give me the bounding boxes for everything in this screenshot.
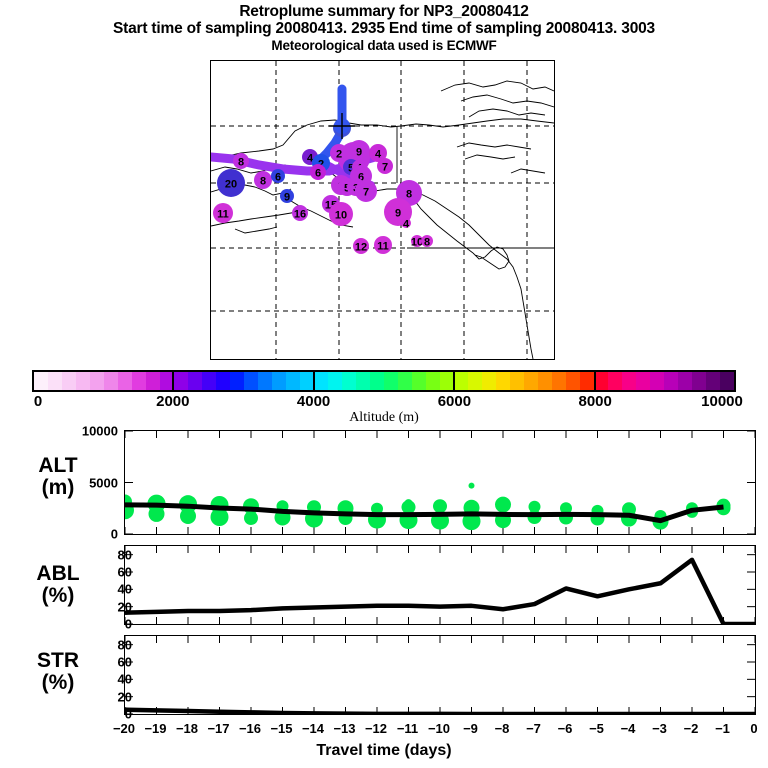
colorbar-division [594,370,596,392]
colorbar-tick-label: 8000 [579,393,612,410]
colorbar-segment [580,372,594,390]
colorbar-segment [188,372,202,390]
x-axis-tick-label: −2 [684,721,699,736]
cluster-label: 6 [275,172,281,184]
abl-line [125,560,755,624]
x-axis-tick-label: −9 [463,721,478,736]
x-axis-tick-label: −18 [176,721,198,736]
x-axis-tick-labels: −20−19−18−17−16−15−14−13−12−11−10−9−8−7−… [0,721,768,737]
colorbar-segment [384,372,398,390]
x-axis-tick-label: 0 [750,721,757,736]
colorbar-tick-label: 4000 [297,393,330,410]
colorbar-segment [496,372,510,390]
colorbar-segment [412,372,426,390]
colorbar-segment [370,372,384,390]
colorbar-segment [706,372,720,390]
colorbar-segment [566,372,580,390]
colorbar-segment [314,372,328,390]
colorbar-segment [342,372,356,390]
x-axis-tick-label: −17 [207,721,229,736]
x-axis-tick-label: −8 [495,721,510,736]
altitude-colorbar [32,370,736,392]
colorbar-segment [216,372,230,390]
coastlines [211,81,554,359]
cluster-label: 11 [217,209,229,221]
x-axis-tick-label: −4 [621,721,636,736]
figure-title: Retroplume summary for NP3_20080412 [0,3,768,20]
cluster-label: 4 [403,219,410,231]
cluster-label: 12 [355,242,367,254]
colorbar-division [453,370,455,392]
str-chart-canvas [125,636,755,714]
colorbar-segment [482,372,496,390]
cluster-label: 9 [356,147,362,159]
colorbar-tick-label: 2000 [156,393,189,410]
colorbar-segment [468,372,482,390]
colorbar-tick-label: 10000 [701,393,743,410]
x-axis-tick-label: −15 [270,721,292,736]
y-axis-tick-label: 20 [72,689,132,704]
y-axis-tick-label: 20 [72,599,132,614]
colorbar-segment [426,372,440,390]
colorbar-segment [454,372,468,390]
colorbar-segment [202,372,216,390]
alt-scatter-point [495,497,511,513]
colorbar-segment [48,372,62,390]
colorbar-segment [272,372,286,390]
y-axis-tick-label: 0 [72,617,132,632]
cluster-label: 11 [377,241,389,253]
y-axis-tick-label: 5000 [58,475,118,490]
cluster-label: 2 [336,149,342,161]
colorbar-segment [244,372,258,390]
alt-scatter-point [433,499,447,513]
y-axis-tick-label: 80 [72,547,132,562]
colorbar-segment [608,372,622,390]
map-canvas: 1426329475468537820869111615108941211108 [211,61,554,359]
x-axis-tick-label: −10 [428,721,450,736]
abl-timeseries-panel[interactable] [124,545,756,625]
colorbar-segment [174,372,188,390]
x-axis-title: Travel time (days) [0,742,768,760]
meteorology-subtitle: Meteorological data used is ECMWF [0,38,768,54]
cluster-label: 16 [294,209,306,221]
colorbar-tick-label: 0 [34,393,42,410]
colorbar-segment [440,372,454,390]
colorbar-segment [720,372,734,390]
x-axis-tick-label: −16 [239,721,261,736]
colorbar-segment [230,372,244,390]
x-axis-tick-label: −7 [526,721,541,736]
colorbar-segment [356,372,370,390]
cluster-label: 8 [424,237,430,249]
x-axis-tick-label: −6 [558,721,573,736]
colorbar-division [172,370,174,392]
cluster-label: 9 [284,192,290,204]
colorbar-segment [398,372,412,390]
colorbar-division [313,370,315,392]
y-axis-tick-label: 10000 [58,424,118,439]
colorbar-segment [286,372,300,390]
retroplume-map[interactable]: 1426329475468537820869111615108941211108 [210,60,555,360]
y-axis-tick-label: 60 [72,565,132,580]
x-axis-tick-label: −5 [589,721,604,736]
x-axis-tick-label: −1 [715,721,730,736]
release-point-crosshair [329,113,355,139]
colorbar-segment [622,372,636,390]
x-axis-tick-label: −19 [144,721,166,736]
cluster-label: 7 [382,162,388,174]
colorbar-segment [34,372,48,390]
colorbar-segment [146,372,160,390]
sampling-time-subtitle: Start time of sampling 20080413. 2935 En… [0,20,768,38]
cluster-markers: 1426329475468537820869111615108941211108 [213,119,433,254]
colorbar-segment [664,372,678,390]
colorbar-segment [328,372,342,390]
x-axis-tick-label: −3 [652,721,667,736]
colorbar-segment [678,372,692,390]
colorbar-segment [510,372,524,390]
colorbar-segment [650,372,664,390]
cluster-label: 7 [363,187,369,199]
colorbar-segment [524,372,538,390]
alt-scatter-point [342,502,350,510]
cluster-label: 8 [238,157,244,169]
y-axis-tick-label: 40 [72,582,132,597]
x-axis-tick-label: −14 [302,721,324,736]
map-graticule [211,61,554,359]
colorbar-segment [258,372,272,390]
x-axis-tick-label: −12 [365,721,387,736]
alt-scatter-point [405,499,413,507]
y-axis-tick-label: 0 [58,527,118,542]
x-axis-tick-label: −11 [397,721,418,736]
colorbar-segment [692,372,706,390]
abl-chart-canvas [125,546,755,624]
alt-scatter-point [149,506,165,522]
cluster-label: 9 [395,208,401,220]
cluster-label: 20 [225,179,237,191]
cluster-label: 8 [406,189,412,201]
colorbar-tick-label: 6000 [438,393,471,410]
x-axis-tick-label: −13 [333,721,355,736]
cluster-label: 6 [315,168,321,180]
colorbar-segment [636,372,650,390]
x-axis-tick-label: −20 [113,721,135,736]
alt-scatter-point [180,508,196,524]
colorbar-segment [538,372,552,390]
colorbar-segment [132,372,146,390]
colorbar-segment [118,372,132,390]
y-axis-tick-label: 60 [72,655,132,670]
alt-timeseries-panel[interactable] [124,430,756,535]
colorbar-segment [104,372,118,390]
alt-scatter-point [469,483,475,489]
colorbar-tick-labels: 0200040006000800010000 [0,393,768,411]
colorbar-segment [76,372,90,390]
colorbar-segment [552,372,566,390]
alt-scatter-point [244,511,258,525]
figure-titles: Retroplume summary for NP3_20080412 Star… [0,0,768,54]
y-axis-tick-label: 80 [72,637,132,652]
alt-chart-canvas [125,431,755,534]
cluster-label: 4 [375,149,382,161]
y-axis-tick-label: 0 [72,707,132,722]
colorbar-segment [90,372,104,390]
cluster-label: 10 [335,210,347,222]
y-axis-tick-label: 40 [72,672,132,687]
cluster-label: 8 [260,176,266,188]
str-timeseries-panel[interactable] [124,635,756,715]
colorbar-segment [62,372,76,390]
